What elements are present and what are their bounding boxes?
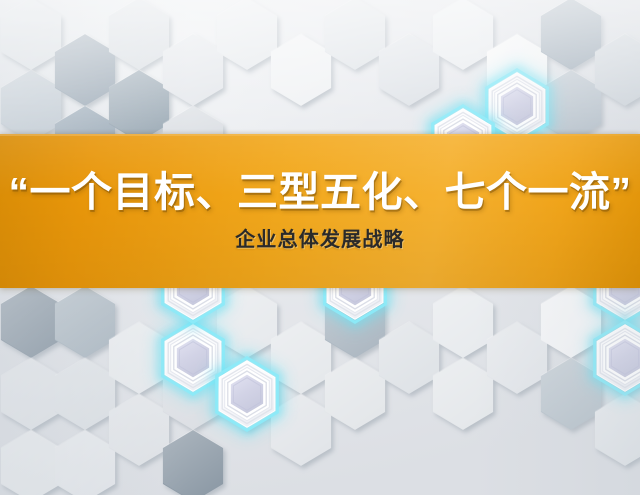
slide-subtitle: 企业总体发展战略: [235, 229, 405, 251]
title-banner: “一个目标、三型五化、七个一流” 企业总体发展战略: [0, 134, 640, 288]
slide-title: “一个目标、三型五化、七个一流”: [9, 171, 632, 214]
slide-canvas: “一个目标、三型五化、七个一流” 企业总体发展战略: [0, 0, 640, 495]
